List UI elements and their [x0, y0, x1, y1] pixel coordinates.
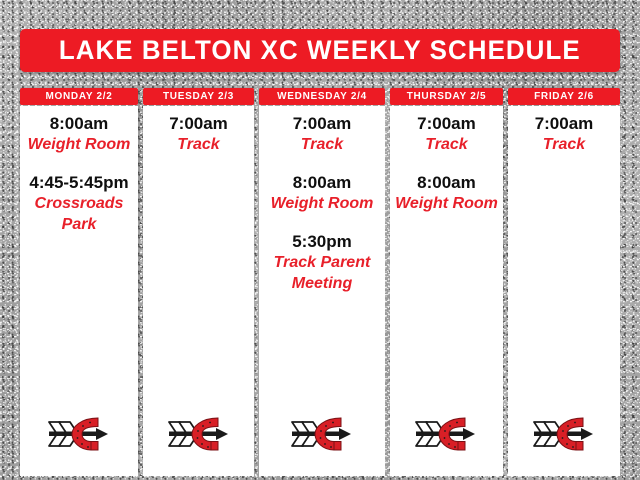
event-title: Track: [261, 134, 383, 155]
event-time: 4:45-5:45pm: [22, 172, 136, 193]
day-column-thursday[interactable]: THURSDAY 2/5 7:00am Track 8:00am Weight …: [390, 88, 503, 476]
event-time: 7:00am: [392, 113, 501, 134]
event-title: Track: [510, 134, 618, 155]
day-column-friday[interactable]: FRIDAY 2/6 7:00am Track: [508, 88, 620, 476]
xc-logo: [143, 414, 254, 454]
event-item[interactable]: 4:45-5:45pm Crossroads Park: [20, 172, 138, 235]
event-item[interactable]: 5:30pm Track Parent Meeting: [259, 231, 385, 294]
event-item[interactable]: 7:00am Track: [143, 113, 254, 155]
day-body-friday: 7:00am Track: [508, 106, 620, 476]
event-title: Crossroads Park: [22, 193, 136, 235]
event-title: Track: [145, 134, 252, 155]
event-item[interactable]: 7:00am Track: [390, 113, 503, 155]
xc-logo: [20, 414, 138, 454]
day-header-tuesday: TUESDAY 2/3: [143, 88, 254, 105]
event-time: 8:00am: [392, 172, 501, 193]
event-title: Weight Room: [261, 193, 383, 214]
event-item[interactable]: 7:00am Track: [259, 113, 385, 155]
day-column-tuesday[interactable]: TUESDAY 2/3 7:00am Track: [143, 88, 254, 476]
event-item[interactable]: 7:00am Track: [508, 113, 620, 155]
day-column-monday[interactable]: MONDAY 2/2 8:00am Weight Room 4:45-5:45p…: [20, 88, 138, 476]
event-time: 8:00am: [261, 172, 383, 193]
event-item[interactable]: 8:00am Weight Room: [390, 172, 503, 214]
xc-logo: [508, 414, 620, 454]
day-header-label: TUESDAY 2/3: [163, 91, 234, 102]
day-body-tuesday: 7:00am Track: [143, 106, 254, 476]
xc-logo: [259, 414, 385, 454]
day-header-friday: FRIDAY 2/6: [508, 88, 620, 105]
event-title: Weight Room: [22, 134, 136, 155]
event-item[interactable]: 8:00am Weight Room: [20, 113, 138, 155]
day-header-thursday: THURSDAY 2/5: [390, 88, 503, 105]
event-item[interactable]: 8:00am Weight Room: [259, 172, 385, 214]
event-title: Track Parent Meeting: [261, 252, 383, 294]
event-time: 7:00am: [510, 113, 618, 134]
day-header-label: THURSDAY 2/5: [407, 91, 487, 102]
day-column-wednesday[interactable]: WEDNESDAY 2/4 7:00am Track 8:00am Weight…: [259, 88, 385, 476]
week-grid: MONDAY 2/2 8:00am Weight Room 4:45-5:45p…: [20, 88, 620, 476]
page-title: LAKE BELTON XC WEEKLY SCHEDULE: [59, 35, 581, 66]
event-title: Weight Room: [392, 193, 501, 214]
xc-logo: [390, 414, 503, 454]
page-title-banner: LAKE BELTON XC WEEKLY SCHEDULE: [20, 29, 620, 72]
event-title: Track: [392, 134, 501, 155]
day-header-label: FRIDAY 2/6: [534, 91, 594, 102]
event-time: 7:00am: [145, 113, 252, 134]
event-time: 5:30pm: [261, 231, 383, 252]
day-header-monday: MONDAY 2/2: [20, 88, 138, 105]
event-time: 7:00am: [261, 113, 383, 134]
day-header-wednesday: WEDNESDAY 2/4: [259, 88, 385, 105]
day-body-monday: 8:00am Weight Room 4:45-5:45pm Crossroad…: [20, 106, 138, 476]
day-body-wednesday: 7:00am Track 8:00am Weight Room 5:30pm T…: [259, 106, 385, 476]
day-header-label: WEDNESDAY 2/4: [277, 91, 367, 102]
event-time: 8:00am: [22, 113, 136, 134]
weekly-schedule-board: LAKE BELTON XC WEEKLY SCHEDULE MONDAY 2/…: [0, 0, 640, 480]
day-body-thursday: 7:00am Track 8:00am Weight Room: [390, 106, 503, 476]
day-header-label: MONDAY 2/2: [45, 91, 112, 102]
